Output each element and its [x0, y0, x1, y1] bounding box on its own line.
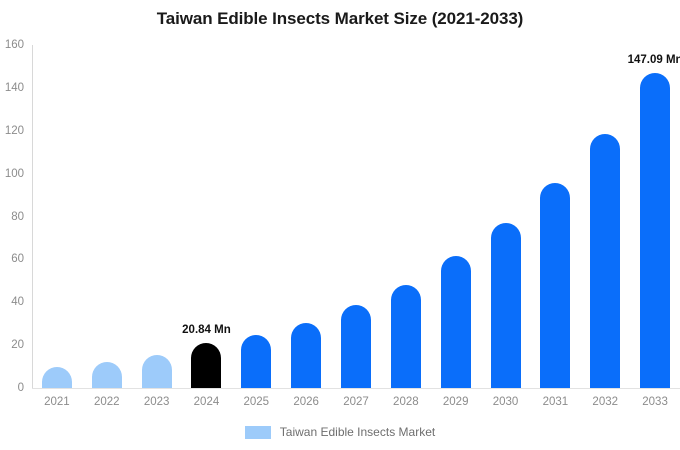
x-axis-tick-label-2028: 2028: [393, 396, 419, 408]
y-axis-tick-label: 40: [0, 296, 24, 308]
x-axis-tick-label-2021: 2021: [44, 396, 70, 408]
bar-value-label-2024: 20.84 Mn: [182, 324, 231, 336]
y-axis-tick-label: 20: [0, 339, 24, 351]
x-axis-tick-label-2031: 2031: [543, 396, 569, 408]
x-axis-tick-label-2026: 2026: [293, 396, 319, 408]
bar-2021[interactable]: [42, 367, 72, 388]
x-axis-tick-label-2023: 2023: [144, 396, 170, 408]
bar-2033[interactable]: [640, 73, 670, 388]
bar-2032[interactable]: [590, 134, 620, 388]
bar-2025[interactable]: [241, 335, 271, 388]
bar-2030[interactable]: [491, 223, 521, 388]
bar-2027[interactable]: [341, 305, 371, 388]
x-axis-tick-label-2032: 2032: [592, 396, 618, 408]
bar-2024[interactable]: [191, 343, 221, 388]
y-axis-tick-label: 100: [0, 168, 24, 180]
y-axis-tick-label: 140: [0, 82, 24, 94]
y-axis-tick-label: 120: [0, 125, 24, 137]
legend-label-taiwan-edible-insects-market: Taiwan Edible Insects Market: [280, 425, 435, 439]
x-axis-tick-label-2025: 2025: [244, 396, 270, 408]
y-axis-tick-label: 0: [0, 382, 24, 394]
bar-2031[interactable]: [540, 183, 570, 388]
bar-2029[interactable]: [441, 256, 471, 388]
y-axis-tick-label: 160: [0, 39, 24, 51]
bar-2023[interactable]: [142, 355, 172, 388]
x-axis-tick-label-2030: 2030: [493, 396, 519, 408]
x-axis-tick-label-2029: 2029: [443, 396, 469, 408]
chart-container: Taiwan Edible Insects Market Size (2021-…: [0, 0, 680, 450]
x-axis-tick-label-2024: 2024: [194, 396, 220, 408]
bar-value-label-2033: 147.09 Mn: [628, 54, 680, 66]
x-axis-line: [32, 388, 680, 389]
plot-area: [32, 45, 680, 388]
x-axis-tick-label-2022: 2022: [94, 396, 120, 408]
y-axis-tick-label: 60: [0, 253, 24, 265]
bar-2026[interactable]: [291, 323, 321, 388]
bar-2022[interactable]: [92, 362, 122, 388]
x-axis-tick-label-2033: 2033: [642, 396, 668, 408]
y-axis-tick-label: 80: [0, 211, 24, 223]
chart-legend: Taiwan Edible Insects Market: [0, 425, 680, 439]
legend-swatch-taiwan-edible-insects-market: [245, 426, 271, 439]
x-axis-tick-label-2027: 2027: [343, 396, 369, 408]
bar-2028[interactable]: [391, 285, 421, 388]
